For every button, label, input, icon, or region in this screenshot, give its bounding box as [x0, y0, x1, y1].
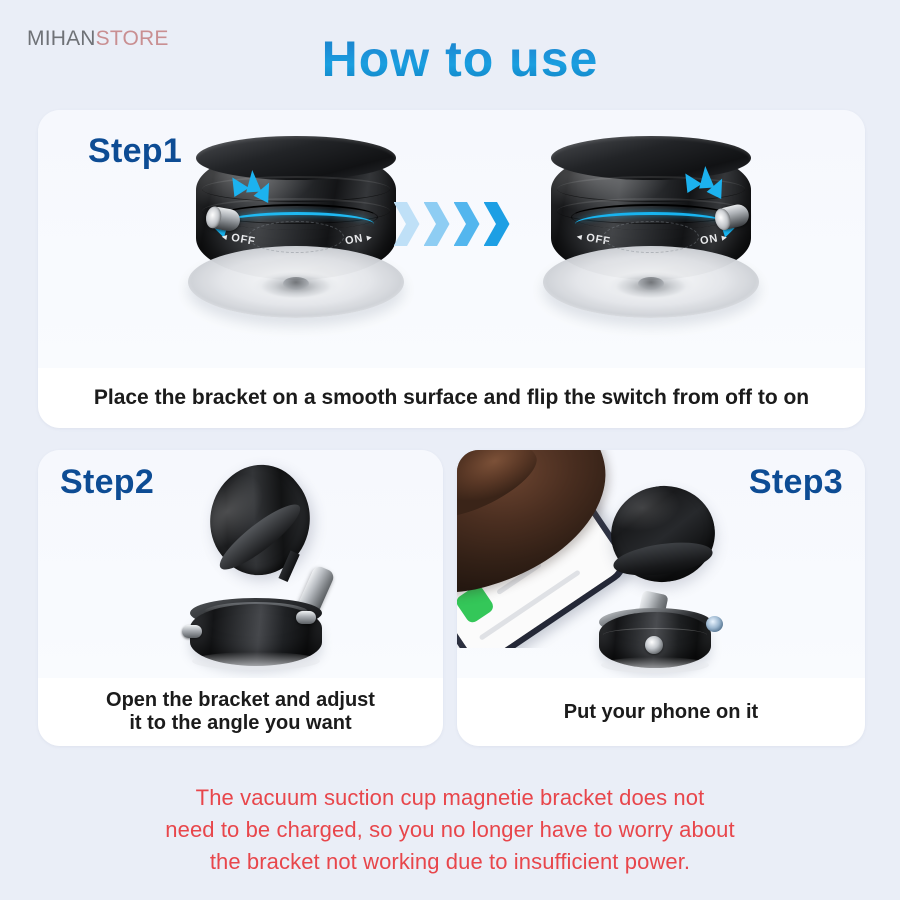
thumb — [457, 450, 546, 533]
page-title: How to use — [0, 30, 900, 88]
step1-caption: Place the bracket on a smooth surface an… — [38, 368, 865, 428]
footer-note: The vacuum suction cup magnetie bracket … — [0, 782, 900, 878]
suction-cup-ring — [603, 221, 699, 253]
bracket-base-lip — [601, 657, 709, 673]
step2-label: Step2 — [60, 463, 154, 502]
bracket-upright-illustration — [599, 486, 739, 676]
step2-illustration-stage: Step2 — [38, 450, 443, 678]
footer-note-line2: need to be charged, so you no longer hav… — [0, 814, 900, 846]
chevron-arrow-icon-1 — [394, 202, 420, 246]
step3-illustration-stage: Step3 — [457, 450, 865, 678]
step2-caption-line1: Open the bracket and adjust — [106, 689, 375, 712]
suction-cup-base — [188, 246, 404, 318]
chevron-arrow-icon-3 — [454, 202, 480, 246]
switch-tick-left-icon: ◂ — [576, 231, 583, 242]
step-card-1: Step1 ◂ OFF ON ▸ — [38, 110, 865, 428]
step-card-3: Step3 Put your phone on it — [457, 450, 865, 746]
switch-tick-right-icon: ▸ — [366, 232, 373, 243]
suction-cup-ring — [248, 221, 344, 253]
step3-caption: Put your phone on it — [457, 678, 865, 746]
step1-illustration-stage: Step1 ◂ OFF ON ▸ — [38, 110, 865, 368]
bracket-base-lip — [192, 652, 320, 670]
suction-cup-base — [543, 246, 759, 318]
footer-note-line3: the bracket not working due to insuffici… — [0, 846, 900, 878]
switch-tick-left-icon: ◂ — [221, 231, 228, 242]
bracket-open-illustration — [180, 462, 340, 672]
base-screw — [645, 636, 663, 654]
device-switch-off: ◂ OFF ON ▸ — [190, 146, 402, 326]
step1-label: Step1 — [88, 132, 182, 171]
hinge-screw — [706, 616, 723, 632]
step-card-2: Step2 Open the bracket and adjust it to … — [38, 450, 443, 746]
device-switch-on: ◂ OFF ON ▸ — [545, 146, 757, 326]
switch-tick-right-icon: ▸ — [721, 232, 728, 243]
step3-label: Step3 — [749, 463, 843, 502]
step2-caption: Open the bracket and adjust it to the an… — [38, 678, 443, 746]
step2-caption-line2: it to the angle you want — [106, 712, 375, 735]
chevron-arrow-icon-2 — [424, 202, 450, 246]
switch-knob[interactable] — [182, 625, 202, 638]
footer-note-line1: The vacuum suction cup magnetie bracket … — [0, 782, 900, 814]
hinge-screw — [296, 611, 316, 624]
chevron-arrow-icon-4 — [484, 202, 510, 246]
chevron-arrows — [394, 202, 510, 246]
